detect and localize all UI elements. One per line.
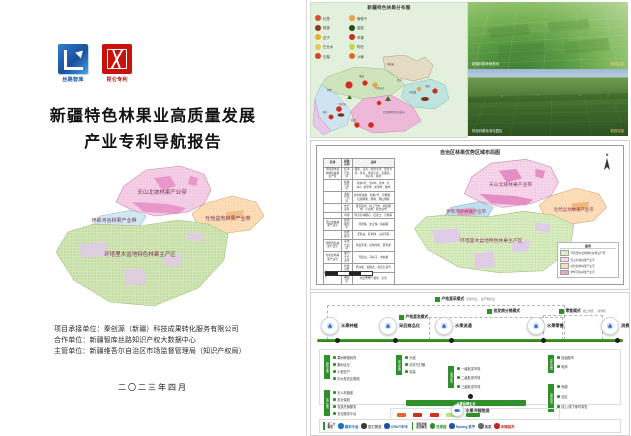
fruit-distribution-map: 新疆特色林果分布图 红枣葡萄干核桃香梨杏子苹果巴旦木枸杞石榴沙棘 — [310, 2, 468, 138]
legend-label: 巴旦木 — [323, 44, 333, 49]
svg-text:昌吉: 昌吉 — [397, 78, 402, 82]
distribution-map-graphic: 阿勒泰塔城 昌吉哈密 吐鲁番乌鲁木齐 伊犁阿克苏 喀什和田 巴音郭楞蒙古自治州 — [313, 55, 467, 135]
photo-caption-right-1: 航拍实景 — [610, 61, 624, 66]
legend-label: 杏子 — [323, 35, 330, 40]
xinjiang-zone-map: 天山北坡林果产业带 伊犁河谷林果产业带 吐哈盆地林果产业带 环塔里木盆地特色林果… — [28, 164, 296, 314]
package-icon — [379, 317, 397, 335]
cover-page: 丝路智库 昆仑专利 新疆特色林果业高质量发展 产业专利导航报告 — [0, 0, 307, 436]
chain-item: 三级批发市场 — [457, 384, 480, 389]
legend-entry: 伊犁河谷林果产业带 — [560, 270, 616, 276]
chain-item: 中大型农企集团 — [333, 376, 360, 381]
kunlun-patent-icon — [102, 44, 132, 74]
logistics-brand-bar: 第三方 物流顺丰冷运双汇物流CRIVT中冷零售终端 配送物流百果园Suning … — [319, 419, 621, 433]
legend-marker-icon — [315, 44, 321, 50]
title-line-1: 新疆特色林果业高质量发展 — [10, 104, 296, 130]
zoning-table: 区域树种名称品种 环塔里木盆地特色林果主产区红枣产业区骏枣、灰枣、哈密大枣、赞皇… — [323, 158, 395, 285]
table-cell: 库尔勒香梨、新梨7号、早酥梨、红香酥梨、酥梨、砀山酥梨 — [352, 192, 394, 204]
kunlun-patent-label: 昆仑专利 — [106, 76, 128, 83]
table-cell: 核桃产业区 — [341, 180, 352, 192]
table-cell: 骏枣、灰枣、哈密大枣、赞皇大枣、冬枣、金丝小枣、壶瓶枣、鸡心枣、梨枣 — [352, 167, 394, 179]
zoning-map-frame: 自治区林果优势区域布局图 区域树种名称品种 环塔里木盆地特色林果主产区红枣产业区… — [316, 145, 624, 285]
table-cell: 无核白、马奶子、木纳格 — [352, 251, 394, 263]
legend-swatch-icon — [560, 250, 569, 256]
table-cell: 鲜食葡萄 — [341, 230, 352, 239]
chain-bullet-icon — [449, 338, 454, 343]
table-row: 核桃产业区新新2号、温185、新丰、扎343、新早丰、新翠丰、矮丰 — [324, 180, 395, 192]
brand-group-title: 第三方 物流 — [328, 423, 336, 429]
chain-bullet-icon — [393, 338, 398, 343]
silk-road-think-tank-icon — [58, 44, 88, 74]
table-cell: 葡萄干产业区 — [341, 251, 352, 263]
svg-text:喀什: 喀什 — [323, 110, 328, 114]
store-icon — [527, 317, 545, 335]
table-cell: 酿酒葡萄区 — [341, 218, 352, 230]
legend-marker-icon — [315, 25, 321, 31]
legend-label: 核桃 — [323, 25, 330, 30]
chain-bullet-icon — [468, 394, 473, 399]
table-cell: 杏产业区 — [341, 204, 352, 213]
map-scale-bar: 0100200 km — [325, 271, 373, 279]
zone-label-turpan: 吐哈盆地林果产业带 — [205, 215, 250, 222]
brand-mark-icon — [449, 423, 455, 429]
brand-name: 顺丰冷运 — [345, 424, 359, 429]
chain-bullet-icon — [615, 338, 620, 343]
brand-name: 永辉超市 — [501, 424, 515, 429]
logo-group: 丝路智库 昆仑专利 — [58, 44, 132, 83]
brand-mark-icon — [494, 423, 500, 429]
brand-name: Suning 苏宁 — [456, 424, 475, 429]
brand-logo[interactable]: Suning 苏宁 — [449, 423, 475, 429]
table-cell: 吐哈盆地林果产业带 — [324, 251, 342, 263]
chain-item: 商超 — [557, 384, 568, 389]
credit-block: 项目承接单位：秦创源（新疆）科技成果转化服务有限公司 合作单位：新疆智库丝路知识… — [10, 324, 296, 357]
document-preview: 丝路智库 昆仑专利 新疆特色林果业高质量发展 产业专利导航报告 — [0, 0, 631, 436]
chain-item: 二级批发市场 — [457, 375, 480, 380]
farmland-aerial-photo: 新疆林果种植基地 航拍实景 — [468, 2, 628, 69]
chain-node-label: 水果零售 — [547, 323, 564, 329]
tag-square-icon — [487, 309, 492, 314]
legend-entry: 杏子 — [315, 34, 349, 40]
table-row: 杏产业区赛买提杏、树上干杏、胡安娜杏、小白杏、轮台白杏 — [324, 204, 395, 213]
legend-marker-icon — [349, 25, 355, 31]
legend-entry: 苹果 — [349, 34, 383, 40]
table-row: 吐哈盆地林果产业带葡萄干产业区无核白、马奶子、木纳格 — [324, 251, 395, 263]
scale-label: 100 — [344, 276, 348, 279]
legend-swatch-icon — [560, 270, 569, 276]
brand-mark-icon — [478, 423, 484, 429]
chain-item: 电商 — [557, 364, 568, 369]
legend-marker-icon — [349, 44, 355, 50]
chain-item: 分选 — [405, 355, 416, 360]
industry-chain-panel: 产地直采模式 农资企业、 生产端企业 产地直发模式 批发商分销模式 零售模式 线… — [310, 292, 630, 436]
chain-item: 小型农户 — [333, 369, 350, 374]
brand-name: CRIVT中冷 — [391, 424, 408, 429]
legend-marker-icon — [349, 34, 355, 40]
cold-chain-icon — [451, 404, 464, 417]
legend-entry: 枸杞 — [349, 44, 383, 50]
legend-marker-icon — [349, 15, 355, 21]
chain-item: 连锁超市 — [557, 355, 574, 360]
brand-name: 百果园 — [436, 424, 446, 429]
brand-logo[interactable]: 永辉超市 — [494, 423, 514, 429]
legend-row: 红枣葡萄干 — [315, 14, 383, 22]
legend-title: 图例 — [560, 244, 616, 249]
chain-node-3[interactable]: 水果零售 — [527, 317, 564, 335]
zoning-label-turpan: 吐哈盆地林果产业带 — [554, 206, 594, 213]
photo-caption-1: 新疆林果种植基地 — [472, 61, 499, 66]
table-cell: 红枣产业区 — [341, 167, 352, 179]
legend-entry: 红枣 — [315, 15, 349, 21]
table-cell — [324, 230, 342, 239]
chain-item: 一级批发市场 — [457, 366, 480, 371]
photo-caption-right-2: 航拍实景 — [610, 128, 624, 133]
zone-label-tarim: 环塔里木盆地特色林果主产区 — [104, 250, 176, 258]
table-cell — [324, 204, 342, 213]
chain-item: 清洗与打蜡 — [405, 362, 425, 367]
chain-node-label: 水果种植 — [341, 323, 358, 329]
table-row: 环塔里木盆地特色林果主产区红枣产业区骏枣、灰枣、哈密大枣、赞皇大枣、冬枣、金丝小… — [324, 167, 395, 179]
brand-mark-icon — [384, 423, 390, 429]
legend-entry: 葡萄干 — [349, 15, 383, 21]
credit-line-1: 项目承接单位：秦创源（新疆）科技成果转化服务有限公司 — [54, 324, 296, 335]
legend-row: 巴旦木枸杞 — [315, 43, 383, 51]
svg-text:和田: 和田 — [351, 118, 356, 122]
credit-line-2: 合作单位：新疆智库丝路知识产权大数据中心 — [54, 335, 296, 346]
orchard-aerial-photo: 特色林果标准化园区 航拍实景 — [468, 69, 628, 136]
brand-logo[interactable]: 双汇物流 — [361, 423, 381, 429]
distribution-panel: 新疆特色林果分布图 红枣葡萄干核桃香梨杏子苹果巴旦木枸杞石榴沙棘 — [310, 2, 628, 136]
brand-name: 美菜 — [485, 424, 492, 429]
table-row: 香梨产业区库尔勒香梨、新梨7号、早酥梨、红香酥梨、酥梨、砀山酥梨 — [324, 192, 395, 204]
chain-item: 果树企业 — [333, 362, 350, 367]
legend-label: 环塔里木盆地特色林果主产区 — [571, 251, 606, 255]
group-divider — [412, 422, 414, 430]
chain-bullet-icon — [335, 338, 340, 343]
chain-rail-line — [317, 339, 623, 342]
chain-node-label: 水果流通 — [455, 323, 472, 329]
tag-square-icon — [435, 297, 440, 302]
legend-label: 香梨 — [357, 25, 364, 30]
chain-bullet-icon — [541, 338, 546, 343]
brand-logo[interactable]: 百果园 — [430, 423, 447, 429]
scale-label: 0 — [325, 276, 326, 279]
zoning-map-legend: 图例 环塔里木盆地特色林果主产区天山北坡林果产业带吐哈盆地林果产业带伊犁河谷林果… — [557, 242, 619, 278]
svg-text:阿克苏: 阿克苏 — [339, 102, 347, 106]
chain-node-1[interactable]: 采后商品化 — [379, 317, 420, 335]
chain-node-label: 消费者 — [621, 323, 630, 329]
cold-chain-node: 水果冷链物流 — [311, 401, 629, 419]
consumer-icon — [601, 317, 619, 335]
table-header: 区域 — [324, 159, 342, 168]
table-cell: 寒富苹果、红肉苹果、野苹果 — [352, 239, 394, 251]
silk-road-think-tank-label: 丝路智库 — [62, 76, 84, 83]
table-cell: 伊犁河谷林果产业带 — [324, 239, 342, 251]
title-line-2: 产业专利导航报告 — [10, 130, 296, 156]
cover-date: 二〇二三年四月 — [10, 382, 296, 393]
table-header: 树种名称 — [341, 159, 352, 168]
table-row: 伊犁河谷林果产业带苹果产业区寒富苹果、红肉苹果、野苹果 — [324, 239, 395, 251]
page-title: 新疆特色林果业高质量发展 产业专利导航报告 — [10, 104, 296, 156]
legend-label: 伊犁河谷林果产业带 — [571, 270, 595, 274]
legend-row: 核桃香梨 — [315, 24, 383, 32]
legend-entry: 天山北坡林果产业带 — [560, 257, 616, 263]
plant-icon — [321, 317, 339, 335]
truck-icon — [435, 317, 453, 335]
chain-col-tag-2: 采后处理 — [396, 355, 402, 375]
brand-mark-icon — [338, 423, 344, 429]
legend-entry: 巴旦木 — [315, 44, 349, 50]
zone-label-ili: 伊犁河谷林果产业带 — [91, 217, 136, 224]
legend-row: 杏子苹果 — [315, 33, 383, 41]
chain-node-label: 采后商品化 — [399, 323, 420, 329]
chain-item: 包装 — [405, 369, 416, 374]
brand-group: 零售终端 配送物流百果园Suning 苏宁美菜永辉超市 — [412, 422, 515, 430]
legend-label: 天山北坡林果产业带 — [571, 258, 595, 262]
chain-item: 社区 — [557, 394, 568, 399]
credit-line-3: 主管单位：新疆维吾尔自治区市场监督管理局（知识产权局） — [54, 346, 296, 357]
scale-label: 200 km — [365, 276, 373, 279]
tag-square-icon — [559, 309, 564, 314]
svg-text:伊犁: 伊犁 — [327, 88, 332, 92]
svg-text:阿勒泰: 阿勒泰 — [387, 62, 395, 66]
table-cell: 新新2号、温185、新丰、扎343、新早丰、新翠丰、矮丰 — [352, 180, 394, 192]
svg-text:巴音郭楞蒙古自治州: 巴音郭楞蒙古自治州 — [383, 110, 405, 114]
chain-tag-2: 批发商分销模式 — [487, 309, 520, 314]
zone-label-tianshan: 天山北坡林果产业带 — [137, 188, 187, 196]
chain-node-2[interactable]: 水果流通 — [435, 317, 472, 335]
chain-tag-3: 零售模式 线上零售、 新零售 — [559, 309, 606, 314]
chain-item: 无人机植保 — [333, 390, 353, 395]
brand-name: 双汇物流 — [368, 424, 382, 429]
table-cell: 赛买提杏、树上干杏、胡安娜杏、小白杏、轮台白杏 — [352, 204, 394, 213]
table-row: 天山北坡林果产业带酿酒葡萄区赤霞珠、蛇龙珠、梅鹿辄 — [324, 218, 395, 230]
chain-col-tag-4: 零售终端 — [548, 355, 554, 373]
legend-marker-icon — [315, 34, 321, 40]
svg-text:哈密: 哈密 — [425, 84, 430, 88]
zoning-map-title: 自治区林果优势区域布局图 — [317, 149, 623, 156]
svg-text:塔城: 塔城 — [359, 74, 364, 78]
legend-entry: 环塔里木盆地特色林果主产区 — [560, 250, 616, 256]
chain-col-tag-0: 种植主体 — [324, 355, 330, 379]
silk-road-think-tank-logo: 丝路智库 — [58, 44, 88, 83]
brand-group: 第三方 物流顺丰冷运双汇物流CRIVT中冷 — [323, 422, 408, 430]
table-header: 品种 — [352, 159, 394, 168]
legend-entry: 香梨 — [349, 25, 383, 31]
group-divider — [323, 422, 325, 430]
chain-col-tag-3: 流通渠道 — [448, 366, 454, 388]
brand-group-title: 零售终端 配送物流 — [416, 423, 426, 429]
brand-logo[interactable]: 顺丰冷运 — [338, 423, 358, 429]
zoning-label-ili: 伊犁河谷林果产业带 — [446, 208, 486, 215]
cover-sheet: 丝路智库 昆仑专利 新疆特色林果业高质量发展 产业专利导航报告 — [10, 4, 296, 432]
legend-marker-icon — [315, 15, 321, 21]
distribution-map-title: 新疆特色林果分布图 — [311, 5, 467, 11]
legend-label: 苹果 — [357, 35, 364, 40]
chain-rail: 水果种植采后商品化水果流通水果零售消费者 — [311, 337, 629, 343]
chain-node-0[interactable]: 水果种植 — [321, 317, 358, 335]
chain-item: 果树种植机构 — [333, 355, 356, 360]
svg-text:乌鲁木齐: 乌鲁木齐 — [375, 86, 385, 90]
legend-entry: 核桃 — [315, 25, 349, 31]
table-cell: 天山北坡林果产业带 — [324, 218, 342, 230]
legend-label: 吐哈盆地林果产业带 — [571, 264, 595, 268]
brand-mark-icon — [361, 423, 367, 429]
right-page-column: 新疆特色林果分布图 红枣葡萄干核桃香梨杏子苹果巴旦木枸杞石榴沙棘 — [307, 0, 631, 436]
kunlun-patent-logo: 昆仑专利 — [102, 44, 132, 83]
photo-caption-2: 特色林果标准化园区 — [472, 128, 503, 133]
table-cell — [324, 180, 342, 192]
brand-logo[interactable]: CRIVT中冷 — [384, 423, 407, 429]
legend-swatch-icon — [560, 257, 569, 263]
table-cell — [324, 192, 342, 204]
legend-label: 葡萄干 — [357, 16, 367, 21]
chain-tag-0: 产地直采模式 农资企业、 生产端企业 — [435, 297, 495, 302]
table-cell: 赤霞珠、蛇龙珠、梅鹿辄 — [352, 218, 394, 230]
legend-swatch-icon — [560, 263, 569, 269]
table-cell: 无核白、红地球、火焰无核 — [352, 230, 394, 239]
legend-label: 枸杞 — [357, 44, 364, 49]
table-row: 鲜食葡萄无核白、红地球、火焰无核 — [324, 230, 395, 239]
brand-logo[interactable]: 美菜 — [478, 423, 491, 429]
legend-label: 红枣 — [323, 16, 330, 21]
table-cell: 环塔里木盆地特色林果主产区 — [324, 167, 342, 179]
brand-mark-icon — [430, 423, 436, 429]
legend-entry: 吐哈盆地林果产业带 — [560, 263, 616, 269]
svg-text:吐鲁番: 吐鲁番 — [409, 90, 417, 94]
zoning-map-panel: 自治区林果优势区域布局图 区域树种名称品种 环塔里木盆地特色林果主产区红枣产业区… — [310, 140, 630, 290]
chain-node-4[interactable]: 消费者 — [601, 317, 630, 335]
table-cell: 香梨产业区 — [341, 192, 352, 204]
table-cell: 苹果产业区 — [341, 239, 352, 251]
